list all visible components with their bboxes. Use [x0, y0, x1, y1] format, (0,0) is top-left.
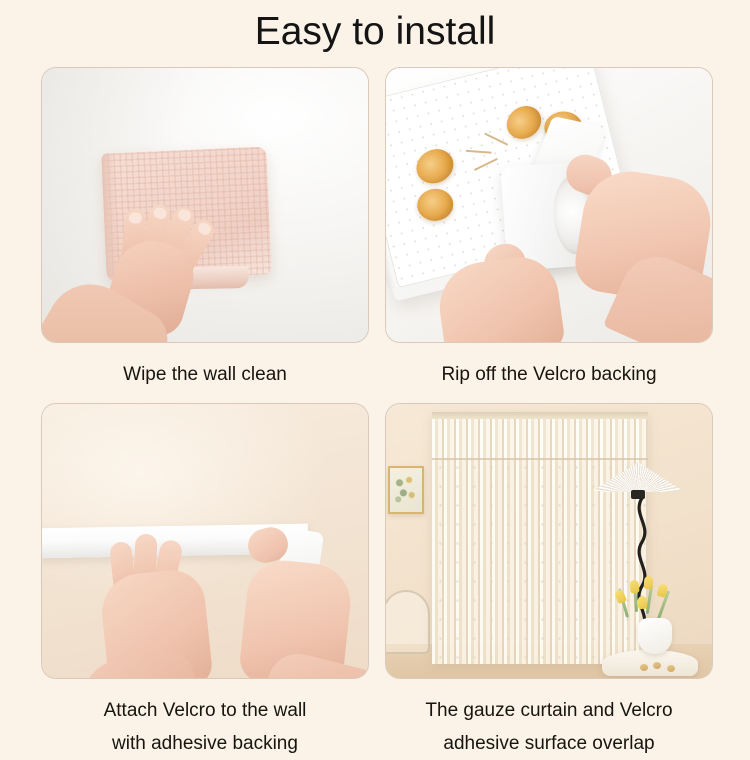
fingernail [128, 212, 142, 225]
curtain-valance [432, 412, 648, 460]
step-4-photo [386, 404, 712, 678]
bead [640, 664, 648, 671]
step-4-caption: The gauze curtain and Velcro adhesive su… [386, 694, 712, 760]
left-hand-graphic [430, 238, 580, 342]
palm [434, 252, 566, 342]
fingernail [196, 221, 213, 237]
step-card-2: Rip off the Velcro backing [386, 68, 712, 391]
bead [653, 662, 661, 669]
step-card-1: Wipe the wall clean [42, 68, 368, 391]
product-infographic: Easy to install Wipe the wall clea [0, 0, 750, 750]
steps-grid: Wipe the wall clean [42, 68, 712, 678]
caption-line-1: Wipe the wall clean [123, 364, 287, 385]
step-2-caption: Rip off the Velcro backing [386, 358, 712, 391]
tulip [644, 576, 654, 590]
tulip [638, 596, 647, 609]
caption-line-1: Rip off the Velcro backing [441, 364, 656, 385]
lamp-shade [594, 462, 682, 492]
framed-artwork [388, 466, 424, 514]
fingernail [152, 206, 167, 220]
step-card-4: The gauze curtain and Velcro adhesive su… [386, 404, 712, 760]
right-hand-graphic [558, 144, 712, 334]
tulip [629, 580, 639, 594]
step-3-caption: Attach Velcro to the wall with adhesive … [42, 694, 368, 760]
left-hand-graphic [90, 526, 240, 678]
step-1-photo [42, 68, 368, 342]
decor-beads [640, 662, 686, 672]
step-1-caption: Wipe the wall clean [42, 358, 368, 391]
page-title: Easy to install [0, 9, 750, 55]
bead [667, 665, 675, 672]
chair-silhouette [386, 590, 430, 654]
step-card-3: Attach Velcro to the wall with adhesive … [42, 404, 368, 760]
curtain-rod [432, 412, 648, 419]
vase [638, 618, 672, 654]
caption-line-1: The gauze curtain and Velcro [425, 700, 672, 721]
caption-line-2: with adhesive backing [42, 727, 368, 760]
caption-line-1: Attach Velcro to the wall [104, 700, 307, 721]
fingernail [176, 208, 192, 223]
botanical-print [393, 472, 419, 508]
right-hand-graphic [220, 522, 368, 678]
step-2-photo [386, 68, 712, 342]
step-3-photo [42, 404, 368, 678]
caption-line-2: adhesive surface overlap [386, 727, 712, 760]
